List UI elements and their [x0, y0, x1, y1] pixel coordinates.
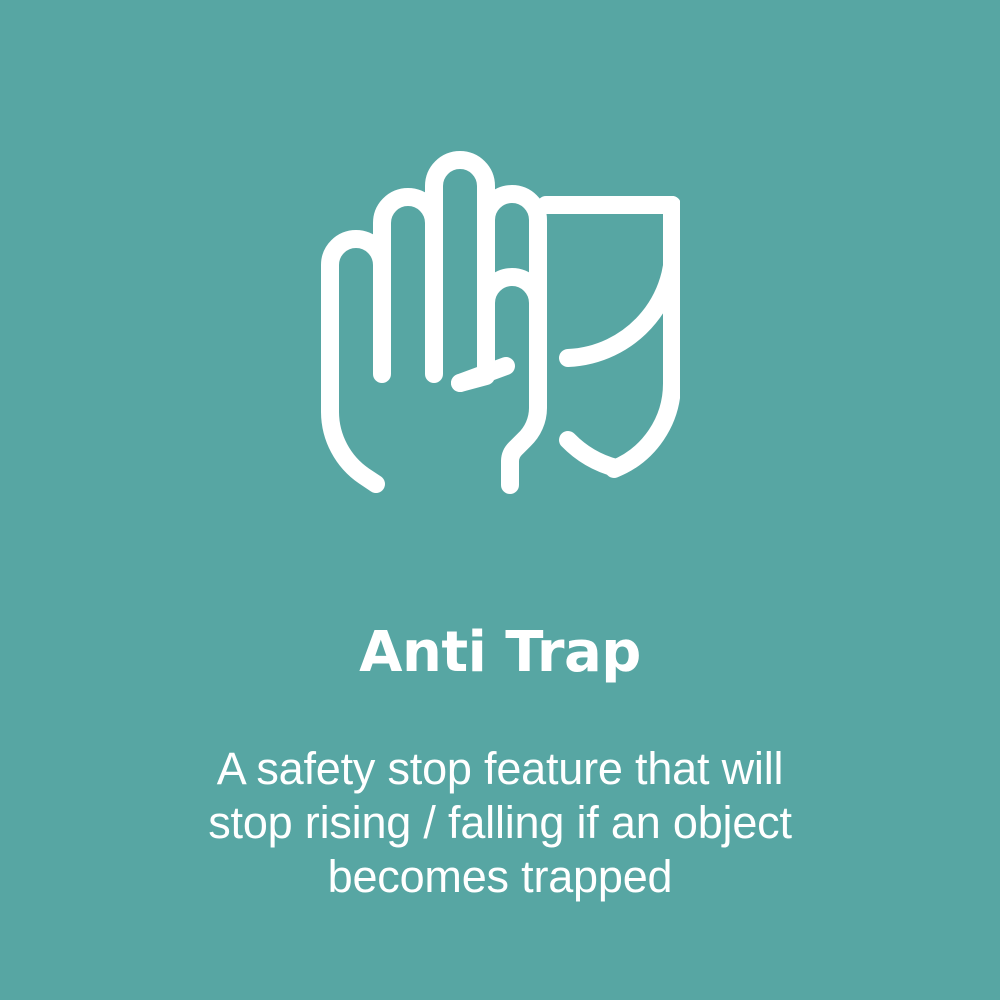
description-line-3: becomes trapped [110, 850, 890, 904]
bracket-upper-hook-path [568, 230, 673, 358]
description-line-2: stop rising / falling if an object [110, 796, 890, 850]
bracket-lower-hook-visible-path [568, 440, 616, 468]
anti-trap-hand-icon [320, 140, 680, 520]
feature-description: A safety stop feature that will stop ris… [110, 742, 890, 904]
wrist-inner-edge-path [510, 303, 538, 485]
hand-outer-edge-path [330, 325, 376, 484]
icon-container [0, 130, 1000, 530]
anti-trap-feature-card: Anti Trap A safety stop feature that wil… [0, 0, 1000, 1000]
description-line-1: A safety stop feature that will [110, 742, 890, 796]
page-title: Anti Trap [0, 624, 1000, 683]
